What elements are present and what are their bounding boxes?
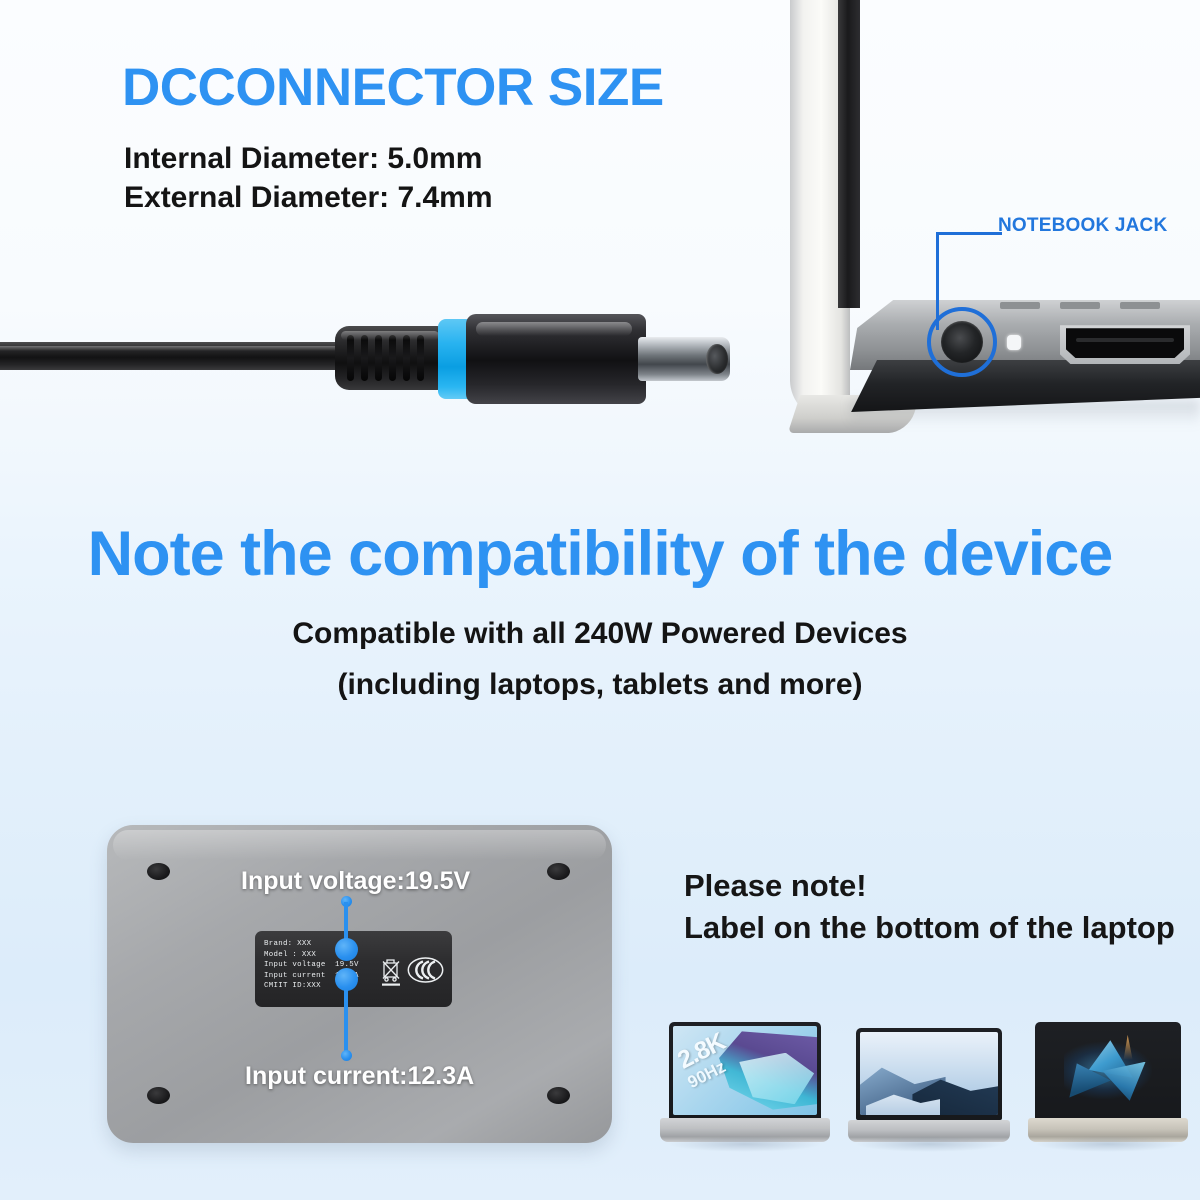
laptop-thumbnail-1: 2.8K 90Hz: [660, 1002, 830, 1142]
laptop-2-bezel: [856, 1028, 1002, 1120]
internal-diameter-text: Internal Diameter: 5.0mm: [124, 142, 482, 176]
connector-tip-bore: [706, 344, 728, 374]
weee-bin-icon: [378, 955, 404, 987]
laptop-3-screen: [1039, 1026, 1177, 1115]
rubber-foot: [147, 1087, 170, 1104]
input-current-caption: Input current:12.3A: [245, 1062, 474, 1091]
callout-dot-large-bottom: [335, 968, 358, 991]
laptop-2-screen: [860, 1032, 998, 1115]
laptop-3-bezel: [1035, 1022, 1181, 1120]
laptop-3-shadow: [1034, 1136, 1181, 1152]
label-location-text: Label on the bottom of the laptop: [684, 910, 1175, 946]
laptop-thumbnail-3: [1028, 1006, 1188, 1142]
rubber-foot: [547, 1087, 570, 1104]
laptop-2-shadow: [854, 1136, 1003, 1152]
infographic-page: DCCONNECTOR SIZE Internal Diameter: 5.0m…: [0, 0, 1200, 1200]
compatibility-subtitle-1: Compatible with all 240W Powered Devices: [0, 617, 1200, 651]
compatibility-section: Note the compatibility of the device Com…: [0, 500, 1200, 740]
callout-leader-horizontal: [936, 232, 1002, 235]
laptop-1-bezel: 2.8K 90Hz: [669, 1022, 821, 1120]
please-note-heading: Please note!: [684, 868, 867, 904]
rubber-foot: [547, 863, 570, 880]
connector-barrel: [466, 314, 646, 404]
callout-dot-small-bottom: [341, 1050, 352, 1061]
power-led-indicator: [1007, 335, 1021, 350]
compatibility-heading: Note the compatibility of the device: [0, 518, 1200, 590]
callout-lead-bottom: [344, 990, 348, 1054]
external-diameter-text: External Diameter: 7.4mm: [124, 181, 493, 215]
laptop-2-wallpaper: [860, 1032, 998, 1115]
ccc-mark-icon: [407, 957, 444, 983]
dc-connector-size-section: DCCONNECTOR SIZE Internal Diameter: 5.0m…: [0, 0, 1200, 470]
callout-leader-vertical: [936, 232, 939, 330]
dc-connector-plug-illustration: [0, 296, 750, 426]
laptop-1-wallpaper: 2.8K 90Hz: [673, 1026, 817, 1115]
laptop-thumbnail-2: [848, 1010, 1010, 1142]
page-title: DCCONNECTOR SIZE: [122, 57, 664, 118]
laptop-3-wallpaper: [1039, 1026, 1177, 1115]
power-cable: [0, 342, 350, 370]
rubber-foot: [147, 863, 170, 880]
compatibility-subtitle-2: (including laptops, tablets and more): [0, 668, 1200, 702]
input-voltage-caption: Input voltage:19.5V: [241, 867, 470, 896]
label-info-section: Brand: XXX Model : XXX Input voltage 19.…: [0, 800, 1200, 1200]
strain-relief-boot: [335, 326, 445, 390]
laptop-1-screen: 2.8K 90Hz: [673, 1026, 817, 1115]
notebook-jack-label: NOTEBOOK JACK: [998, 215, 1167, 237]
laptop-lid-bezel: [838, 0, 860, 308]
notebook-jack-callout: NOTEBOOK JACK: [930, 215, 1200, 330]
callout-dot-large-top: [335, 938, 358, 961]
laptop-1-shadow: [667, 1136, 823, 1152]
